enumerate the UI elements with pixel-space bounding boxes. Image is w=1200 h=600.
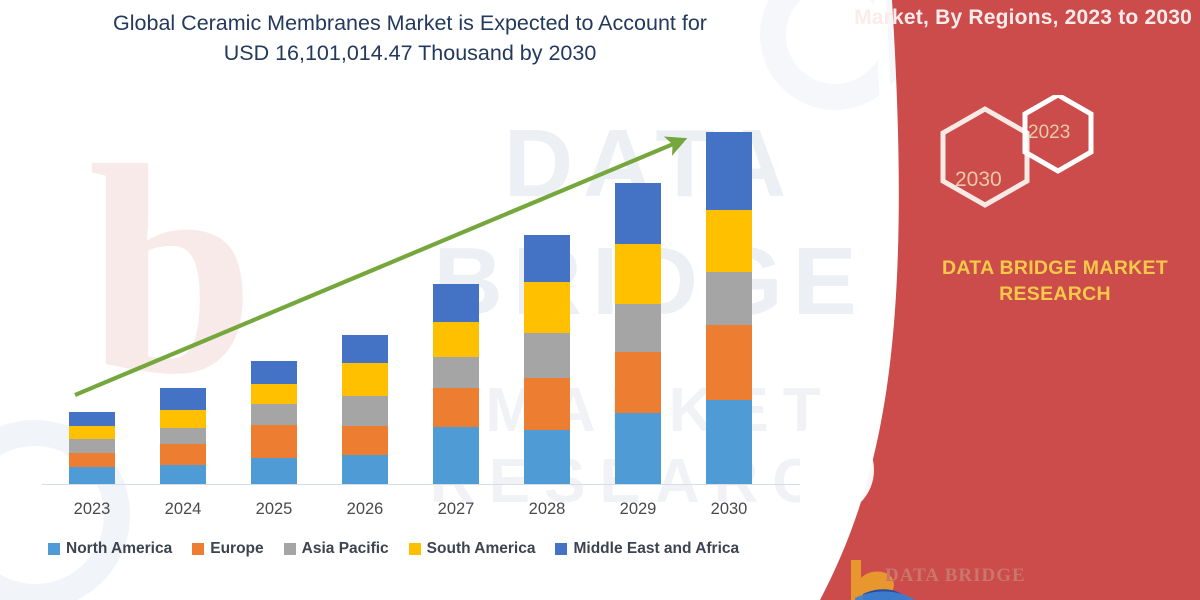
bar-2029[interactable] xyxy=(615,183,661,484)
bar-segment xyxy=(342,363,388,396)
infographic-canvas: b DATA BRIDGE MARKET RESEARCH Global Cer… xyxy=(0,0,1200,600)
bar-segment xyxy=(524,333,570,378)
x-label-2023: 2023 xyxy=(52,500,132,519)
brand-line-2: RESEARCH xyxy=(910,281,1200,307)
x-label-2026: 2026 xyxy=(325,500,405,519)
brand-name: DATA BRIDGE MARKET RESEARCH xyxy=(910,255,1200,307)
bar-2027[interactable] xyxy=(433,284,479,484)
x-label-2027: 2027 xyxy=(416,500,496,519)
bar-segment xyxy=(251,458,297,484)
bar-segment xyxy=(69,412,115,426)
bar-segment xyxy=(160,428,206,444)
bar-segment xyxy=(524,235,570,282)
bar-segment xyxy=(160,465,206,484)
bar-segment xyxy=(524,378,570,430)
legend-label: Asia Pacific xyxy=(302,540,389,558)
bar-segment xyxy=(433,284,479,322)
bar-segment xyxy=(251,361,297,384)
bar-segment xyxy=(433,357,479,388)
legend-label: Europe xyxy=(210,540,263,558)
x-label-2024: 2024 xyxy=(143,500,223,519)
legend-item-south-america[interactable]: South America xyxy=(409,540,536,558)
chart-legend: North AmericaEuropeAsia PacificSouth Ame… xyxy=(48,540,739,558)
bar-segment xyxy=(433,322,479,357)
bar-segment xyxy=(706,132,752,210)
bar-segment xyxy=(433,388,479,427)
legend-label: Middle East and Africa xyxy=(573,540,739,558)
legend-swatch-icon xyxy=(409,543,421,555)
bar-2028[interactable] xyxy=(524,235,570,484)
x-label-2028: 2028 xyxy=(507,500,587,519)
legend-label: North America xyxy=(66,540,172,558)
bar-segment xyxy=(160,410,206,428)
bar-segment xyxy=(615,304,661,352)
bar-segment xyxy=(706,325,752,400)
bar-2024[interactable] xyxy=(160,388,206,484)
stacked-bar-chart: Global Ceramic Membranes Market is Expec… xyxy=(0,0,820,600)
bar-segment xyxy=(342,426,388,455)
legend-swatch-icon xyxy=(48,543,60,555)
brand-line-1: DATA BRIDGE MARKET xyxy=(910,255,1200,281)
legend-label: South America xyxy=(427,540,536,558)
hexagon-badges xyxy=(925,95,1125,230)
hexagon-label-2023: 2023 xyxy=(1028,122,1070,144)
bar-segment xyxy=(433,427,479,484)
bar-segment xyxy=(615,413,661,484)
bar-segment xyxy=(160,388,206,410)
legend-item-north-america[interactable]: North America xyxy=(48,540,172,558)
legend-swatch-icon xyxy=(192,543,204,555)
bar-2025[interactable] xyxy=(251,361,297,484)
bar-segment xyxy=(615,352,661,413)
bar-segment xyxy=(342,455,388,484)
legend-swatch-icon xyxy=(555,543,567,555)
bar-segment xyxy=(251,425,297,458)
bar-2030[interactable] xyxy=(706,132,752,484)
bar-2023[interactable] xyxy=(69,412,115,484)
bar-segment xyxy=(615,244,661,304)
legend-item-middle-east-and-africa[interactable]: Middle East and Africa xyxy=(555,540,739,558)
x-label-2025: 2025 xyxy=(234,500,314,519)
bar-segment xyxy=(69,467,115,484)
bar-segment xyxy=(251,384,297,404)
logo-text: DATA BRIDGE xyxy=(885,565,1026,587)
legend-item-europe[interactable]: Europe xyxy=(192,540,263,558)
bar-segment xyxy=(69,426,115,439)
x-axis-line xyxy=(42,484,817,485)
bar-segment xyxy=(706,210,752,272)
bar-segment xyxy=(251,404,297,425)
hexagon-label-2030: 2030 xyxy=(955,168,1002,192)
bar-segment xyxy=(342,335,388,363)
bar-segment xyxy=(69,453,115,467)
legend-item-asia-pacific[interactable]: Asia Pacific xyxy=(284,540,389,558)
bar-segment xyxy=(706,400,752,484)
bar-segment xyxy=(342,396,388,426)
x-label-2029: 2029 xyxy=(598,500,678,519)
bar-segment xyxy=(615,183,661,244)
legend-swatch-icon xyxy=(284,543,296,555)
bar-segment xyxy=(69,439,115,453)
x-label-2030: 2030 xyxy=(689,500,769,519)
panel-heading: Market, By Regions, 2023 to 2030 xyxy=(822,6,1192,30)
bar-segment xyxy=(524,282,570,333)
bar-segment xyxy=(706,272,752,325)
bar-segment xyxy=(160,444,206,465)
bar-2026[interactable] xyxy=(342,335,388,484)
bar-segment xyxy=(524,430,570,484)
